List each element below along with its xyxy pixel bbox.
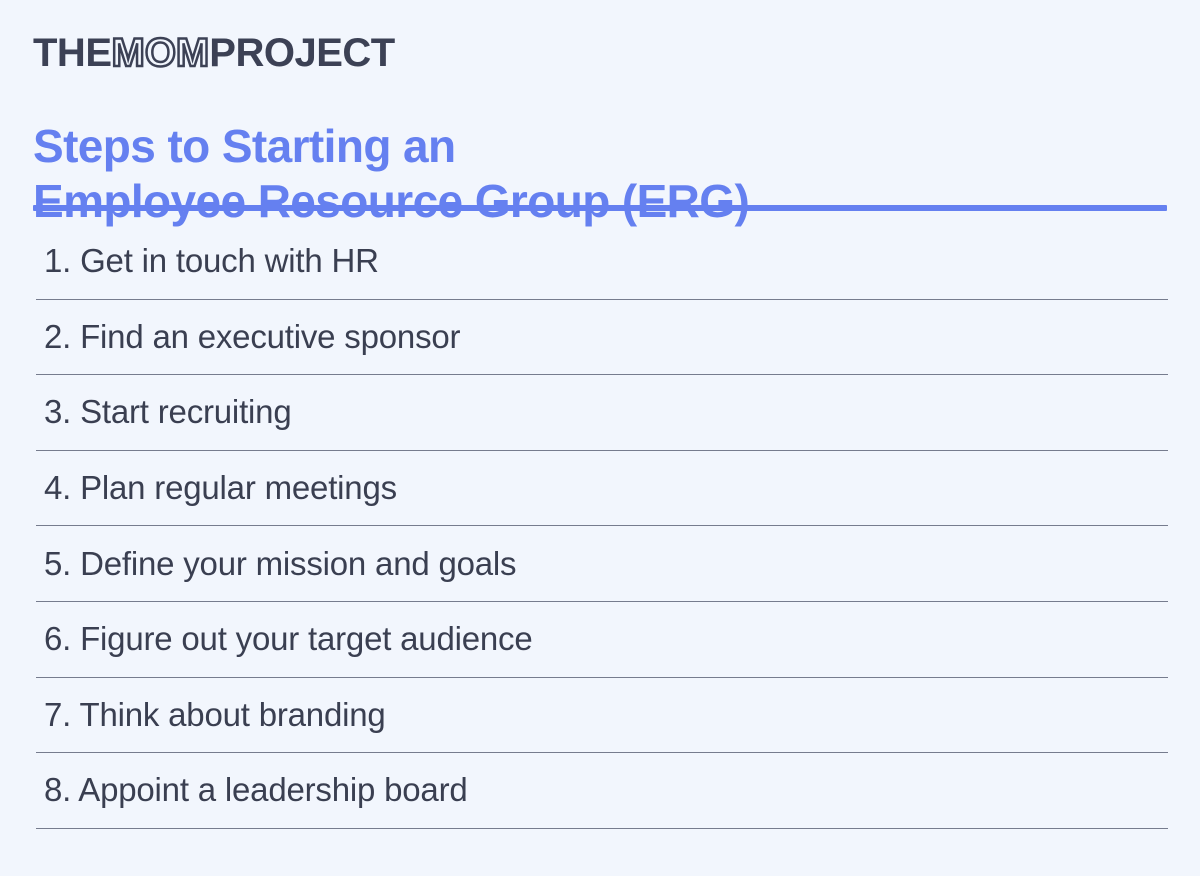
list-item: 3. Start recruiting — [36, 375, 1168, 451]
step-label: 8. Appoint a leadership board — [36, 772, 468, 808]
step-label: 5. Define your mission and goals — [36, 546, 516, 582]
list-item: 8. Appoint a leadership board — [36, 753, 1168, 829]
list-item: 4. Plan regular meetings — [36, 451, 1168, 527]
step-label: 6. Figure out your target audience — [36, 621, 533, 657]
brand-word-the: THE — [33, 33, 112, 73]
list-item: 7. Think about branding — [36, 678, 1168, 754]
page-title-line-2: Employee Resource Group (ERG) — [33, 174, 1167, 229]
infographic-page: THEMOMPROJECT Steps to Starting an Emplo… — [0, 0, 1200, 876]
step-label: 2. Find an executive sponsor — [36, 319, 460, 355]
brand-word-mom: MOM — [112, 33, 210, 73]
list-item: 6. Figure out your target audience — [36, 602, 1168, 678]
list-item: 2. Find an executive sponsor — [36, 300, 1168, 376]
brand-word-project: PROJECT — [209, 33, 394, 73]
brand-logo: THEMOMPROJECT — [33, 30, 395, 76]
step-label: 7. Think about branding — [36, 697, 386, 733]
list-item: 1. Get in touch with HR — [36, 224, 1168, 300]
steps-list: 1. Get in touch with HR 2. Find an execu… — [36, 224, 1168, 829]
step-label: 1. Get in touch with HR — [36, 243, 379, 279]
page-title-line-1: Steps to Starting an — [33, 119, 1167, 174]
step-label: 3. Start recruiting — [36, 394, 291, 430]
step-label: 4. Plan regular meetings — [36, 470, 397, 506]
accent-divider — [33, 205, 1167, 211]
list-item: 5. Define your mission and goals — [36, 526, 1168, 602]
page-title: Steps to Starting an Employee Resource G… — [33, 119, 1167, 229]
